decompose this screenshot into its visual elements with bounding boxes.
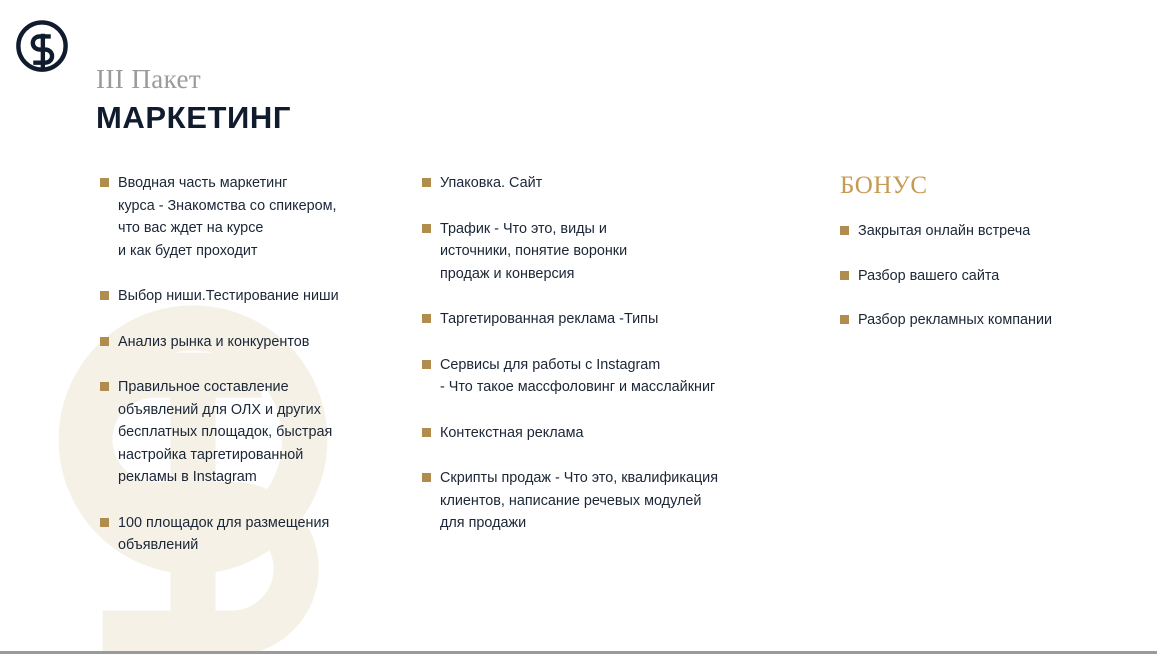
list-item: 100 площадок для размещения объявлений	[100, 512, 400, 557]
bullet-square-icon	[422, 473, 431, 482]
list-item: Правильное составление объявлений для ОЛ…	[100, 376, 400, 489]
list-item: Выбор ниши.Тестирование ниши	[100, 285, 400, 308]
bullet-list-left: Вводная часть маркетинг курса - Знакомст…	[100, 172, 400, 557]
list-item-label: Анализ рынка и конкурентов	[118, 331, 400, 354]
bullet-list-middle: Упаковка. Сайт Трафик - Что это, виды и …	[422, 172, 762, 535]
list-item-label: Упаковка. Сайт	[440, 172, 762, 195]
list-item: Скрипты продаж - Что это, квалификация к…	[422, 467, 762, 535]
bullet-square-icon	[422, 314, 431, 323]
bullet-square-icon	[100, 518, 109, 527]
list-item-label: Правильное составление объявлений для ОЛ…	[118, 376, 400, 489]
list-item-label: Сервисы для работы с Instagram - Что так…	[440, 354, 762, 399]
list-item: Разбор рекламных компании	[840, 309, 1120, 332]
list-item-label: Разбор рекламных компании	[858, 309, 1120, 332]
list-item-label: Выбор ниши.Тестирование ниши	[118, 285, 400, 308]
list-item-label: Скрипты продаж - Что это, квалификация к…	[440, 467, 762, 535]
list-item-label: Трафик - Что это, виды и источники, поня…	[440, 218, 762, 286]
list-item-label: Разбор вашего сайта	[858, 265, 1120, 288]
list-item-label: Таргетированная реклама -Типы	[440, 308, 762, 331]
marketing-package-slide: III Пакет МАРКЕТИНГ Вводная часть маркет…	[0, 0, 1157, 654]
list-item: Разбор вашего сайта	[840, 265, 1120, 288]
bullet-square-icon	[840, 315, 849, 324]
bullet-square-icon	[100, 291, 109, 300]
bullet-square-icon	[840, 226, 849, 235]
slide-header: III Пакет МАРКЕТИНГ	[96, 64, 291, 136]
bullet-square-icon	[840, 271, 849, 280]
list-item-label: 100 площадок для размещения объявлений	[118, 512, 400, 557]
list-item: Контекстная реклама	[422, 422, 762, 445]
list-item: Закрытая онлайн встреча	[840, 220, 1120, 243]
list-item: Трафик - Что это, виды и источники, поня…	[422, 218, 762, 286]
list-item-label: Вводная часть маркетинг курса - Знакомст…	[118, 172, 400, 262]
bullet-square-icon	[422, 428, 431, 437]
list-item-label: Контекстная реклама	[440, 422, 762, 445]
bullet-list-bonus: Закрытая онлайн встреча Разбор вашего са…	[840, 220, 1120, 332]
bullet-square-icon	[100, 337, 109, 346]
bullet-square-icon	[100, 382, 109, 391]
list-item: Таргетированная реклама -Типы	[422, 308, 762, 331]
content-column-left: Вводная часть маркетинг курса - Знакомст…	[100, 172, 400, 557]
bullet-square-icon	[100, 178, 109, 187]
bullet-square-icon	[422, 360, 431, 369]
list-item-label: Закрытая онлайн встреча	[858, 220, 1120, 243]
bullet-square-icon	[422, 178, 431, 187]
list-item: Вводная часть маркетинг курса - Знакомст…	[100, 172, 400, 262]
content-column-bonus: БОНУС Закрытая онлайн встреча Разбор ваш…	[840, 172, 1120, 354]
list-item: Анализ рынка и конкурентов	[100, 331, 400, 354]
bullet-square-icon	[422, 224, 431, 233]
list-item: Сервисы для работы с Instagram - Что так…	[422, 354, 762, 399]
list-item: Упаковка. Сайт	[422, 172, 762, 195]
package-label: III Пакет	[96, 64, 291, 94]
bonus-heading: БОНУС	[840, 172, 1120, 200]
sp-monogram-logo-icon	[14, 18, 70, 74]
content-column-middle: Упаковка. Сайт Трафик - Что это, виды и …	[422, 172, 762, 535]
page-title: МАРКЕТИНГ	[96, 100, 291, 136]
